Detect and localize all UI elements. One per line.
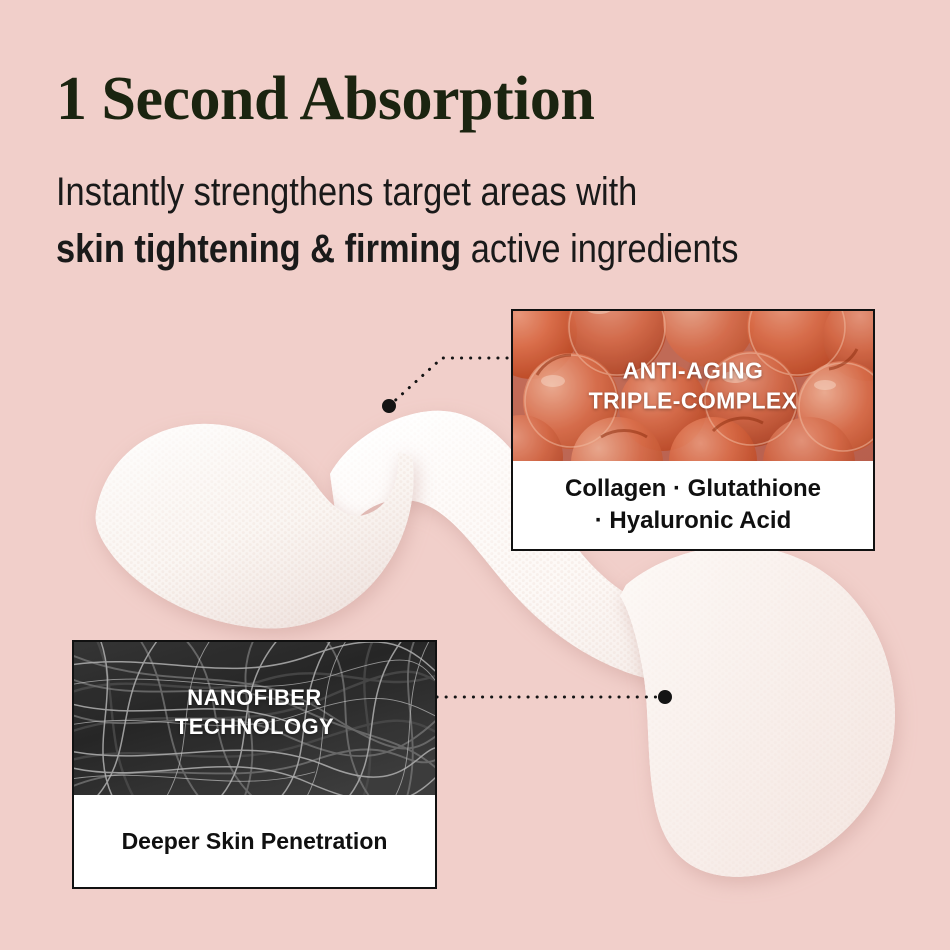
card-anti-aging-footer: Collagen · Glutathione · Hyaluronic Acid (513, 461, 873, 549)
card-anti-aging-caption: ANTI-AGING TRIPLE-COMPLEX (513, 356, 873, 417)
subtitle-line-2-rest: active ingredients (461, 227, 738, 271)
card-anti-aging-caption-line-2: TRIPLE-COMPLEX (513, 386, 873, 416)
card-anti-aging[interactable]: ANTI-AGING TRIPLE-COMPLEX Collagen · Glu… (511, 309, 875, 551)
subtitle-line-1: Instantly strengthens target areas with (56, 172, 637, 212)
subtitle-line-2: skin tightening & firming active ingredi… (56, 229, 738, 269)
subtitle-highlight: skin tightening & firming (56, 227, 461, 271)
card-nanofiber-footer-line-1: Deeper Skin Penetration (122, 828, 388, 855)
card-anti-aging-footer-line-1: Collagen · Glutathione (565, 473, 821, 505)
card-nanofiber-caption-line-1: NANOFIBER (74, 683, 435, 712)
card-nanofiber-footer: Deeper Skin Penetration (74, 795, 435, 887)
page-title: 1 Second Absorption (56, 68, 594, 130)
card-nanofiber[interactable]: NANOFIBER TECHNOLOGY Deeper Skin Penetra… (72, 640, 437, 889)
card-anti-aging-caption-line-1: ANTI-AGING (513, 356, 873, 386)
card-anti-aging-footer-line-2: · Hyaluronic Acid (565, 505, 821, 537)
eye-patch-right (620, 546, 895, 877)
capsule-photo: ANTI-AGING TRIPLE-COMPLEX (513, 311, 873, 461)
card-nanofiber-caption-line-2: TECHNOLOGY (74, 712, 435, 741)
nanofiber-photo: NANOFIBER TECHNOLOGY (74, 642, 435, 795)
product-feature-graphic: 1 Second Absorption Instantly strengthen… (0, 0, 950, 950)
card-nanofiber-caption: NANOFIBER TECHNOLOGY (74, 683, 435, 741)
